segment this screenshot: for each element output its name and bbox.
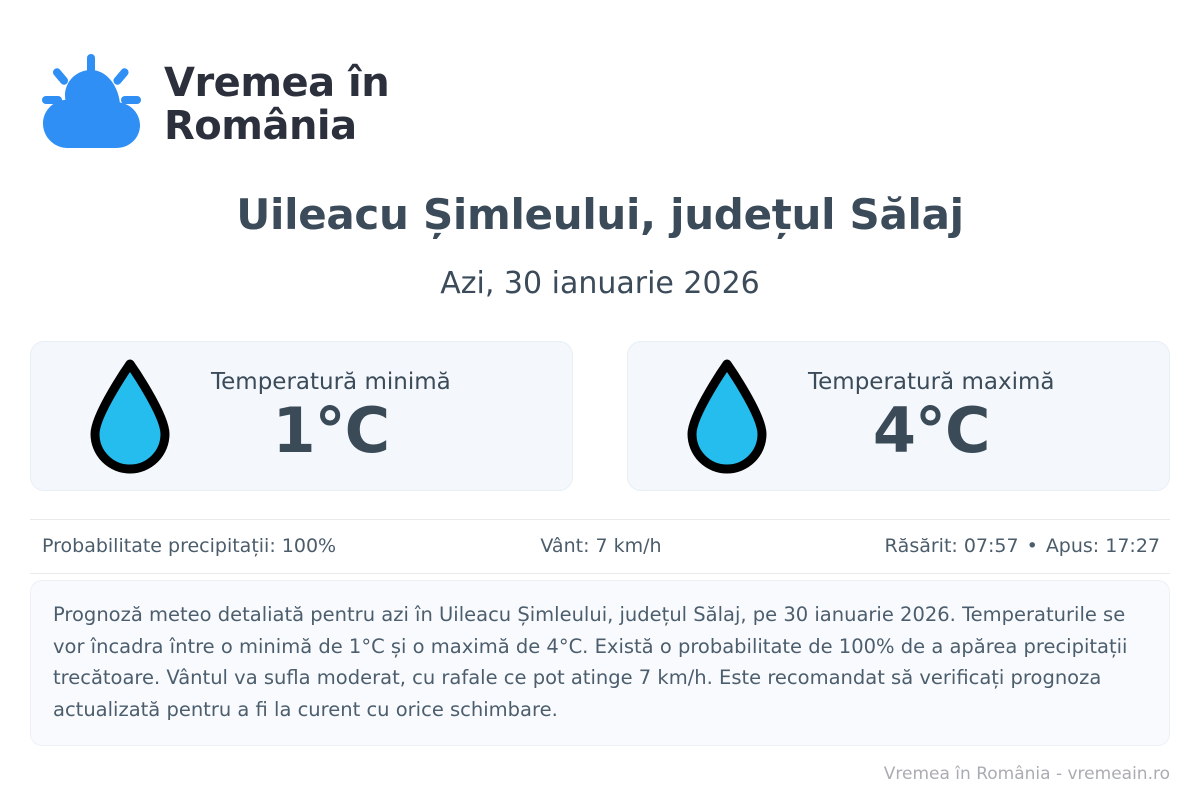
- min-temperature-label: Temperatură minimă: [211, 369, 451, 397]
- precipitation-stat: Probabilitate precipitații: 100%: [30, 535, 415, 557]
- footer-credit: Vremea în România - vremeain.ro: [884, 764, 1170, 784]
- wind-stat: Vânt: 7 km/h: [415, 535, 788, 557]
- sun-times-stat: Răsărit: 07:57•Apus: 17:27: [787, 535, 1170, 557]
- forecast-description: Prognoză meteo detaliată pentru azi în U…: [30, 580, 1170, 746]
- sunrise-value: Răsărit: 07:57: [884, 535, 1018, 557]
- sun-behind-cloud-icon: [36, 52, 146, 158]
- temperature-cards: Temperatură minimă 1°C Temperatură maxim…: [30, 341, 1170, 491]
- sun-times-separator: •: [1019, 535, 1046, 557]
- water-drop-icon: [686, 358, 768, 474]
- weather-page: Vremea în România Uileacu Șimleului, jud…: [0, 0, 1200, 800]
- stats-divider-bottom: [30, 573, 1170, 574]
- page-subtitle: Azi, 30 ianuarie 2026: [0, 266, 1200, 301]
- max-temperature-label: Temperatură maximă: [808, 369, 1054, 397]
- min-temperature-value: 1°C: [273, 398, 390, 463]
- water-drop-icon: [89, 358, 171, 474]
- brand-logo[interactable]: Vremea în România: [36, 52, 389, 158]
- max-temperature-card: Temperatură maximă 4°C: [627, 341, 1170, 491]
- stats-row: Probabilitate precipitații: 100% Vânt: 7…: [30, 519, 1170, 573]
- min-temperature-card: Temperatură minimă 1°C: [30, 341, 573, 491]
- brand-name: Vremea în România: [164, 62, 389, 148]
- min-temperature-body: Temperatură minimă 1°C: [211, 369, 451, 464]
- max-temperature-body: Temperatură maximă 4°C: [808, 369, 1054, 464]
- max-temperature-value: 4°C: [873, 398, 990, 463]
- page-title: Uileacu Șimleului, județul Sălaj: [0, 190, 1200, 239]
- sunset-value: Apus: 17:27: [1046, 535, 1160, 557]
